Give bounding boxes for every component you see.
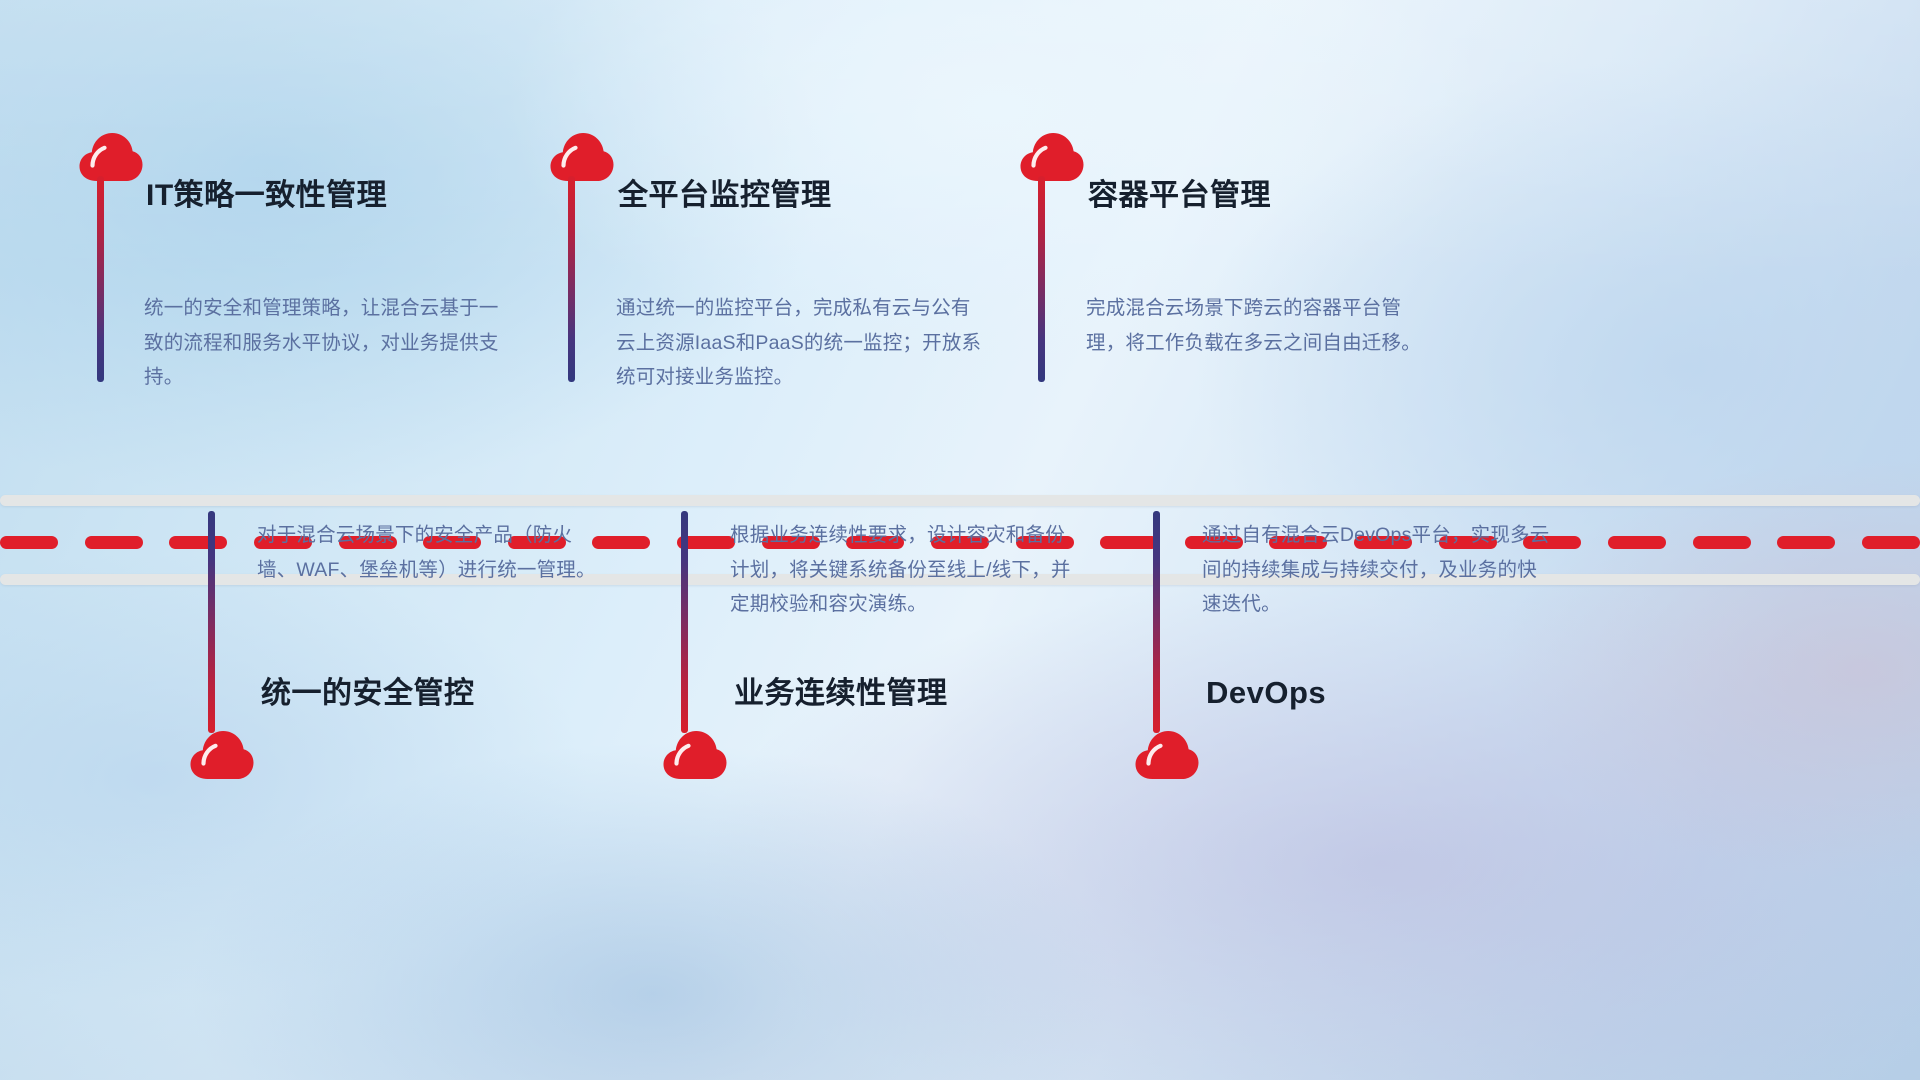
- road-dash: [85, 536, 143, 549]
- road-dash: [1608, 536, 1666, 549]
- marker-description: 通过自有混合云DevOps平台，实现多云间的持续集成与持续交付，及业务的快速迭代…: [1202, 518, 1554, 622]
- cloud-icon: [549, 131, 615, 183]
- cloud-icon: [662, 729, 728, 781]
- marker-stem: [681, 511, 688, 733]
- marker-title: 容器平台管理: [1088, 181, 1271, 211]
- marker-title: IT策略一致性管理: [146, 181, 387, 211]
- marker-stem: [208, 511, 215, 733]
- marker-title: 统一的安全管控: [261, 679, 475, 709]
- cloud-icon: [1134, 729, 1200, 781]
- marker-title: DevOps: [1206, 677, 1326, 708]
- marker-stem: [1038, 176, 1045, 382]
- marker-description: 完成混合云场景下跨云的容器平台管理，将工作负载在多云之间自由迁移。: [1086, 291, 1438, 360]
- marker-description: 通过统一的监控平台，完成私有云与公有云上资源IaaS和PaaS的统一监控；开放系…: [616, 291, 982, 395]
- marker-description: 根据业务连续性要求，设计容灾和备份计划，将关键系统备份至线上/线下，并定期校验和…: [730, 518, 1082, 622]
- cloud-icon: [189, 729, 255, 781]
- marker-description: 统一的安全和管理策略，让混合云基于一致的流程和服务水平协议，对业务提供支持。: [144, 291, 499, 395]
- road-dash: [1693, 536, 1751, 549]
- cloud-icon: [1019, 131, 1085, 183]
- road-dash: [1100, 536, 1158, 549]
- marker-title: 全平台监控管理: [618, 181, 832, 211]
- marker-stem: [568, 176, 575, 382]
- road-dash: [0, 536, 58, 549]
- road-line-top: [0, 495, 1920, 506]
- road-dash: [169, 536, 227, 549]
- marker-stem: [97, 176, 104, 382]
- marker-stem: [1153, 511, 1160, 733]
- road-dash: [1777, 536, 1835, 549]
- marker-description: 对于混合云场景下的安全产品（防火墙、WAF、堡垒机等）进行统一管理。: [257, 518, 605, 587]
- cloud-icon: [78, 131, 144, 183]
- road-dash: [1862, 536, 1920, 549]
- marker-title: 业务连续性管理: [734, 679, 948, 709]
